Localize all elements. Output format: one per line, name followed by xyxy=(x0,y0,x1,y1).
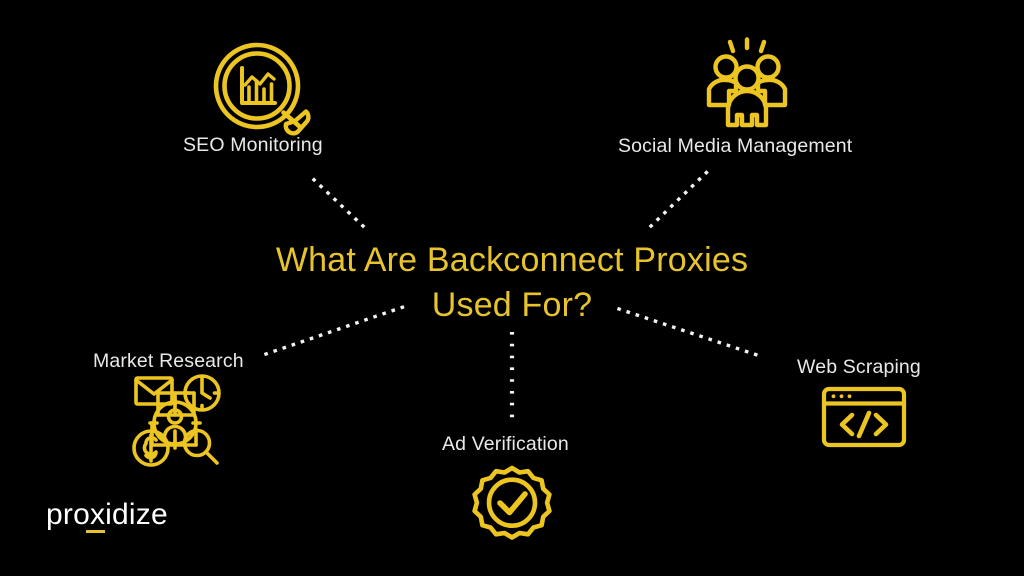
node-label-social-media-management: Social Media Management xyxy=(618,137,852,157)
node-label-web-scraping: Web Scraping xyxy=(797,358,921,378)
connector-title-to-social-media xyxy=(645,168,713,230)
center-title-line-1: What Are Backconnect Proxies xyxy=(0,238,1024,283)
node-label-ad-verification: Ad Verification xyxy=(442,435,569,455)
logo-wordmark: proxidize xyxy=(46,500,168,530)
center-title: What Are Backconnect Proxies Used For? xyxy=(0,238,1024,328)
connector-title-to-ad-verification xyxy=(508,330,516,428)
market-research-network-icon xyxy=(126,371,224,469)
people-group-icon xyxy=(700,39,794,129)
magnifier-bar-chart-icon xyxy=(211,41,311,133)
infographic-canvas: What Are Backconnect Proxies Used For? xyxy=(0,0,1024,576)
browser-code-icon xyxy=(821,386,907,448)
center-title-line-2: Used For? xyxy=(0,283,1024,328)
badge-check-icon xyxy=(467,466,557,550)
node-label-market-research: Market Research xyxy=(93,352,244,372)
logo-accent-underline xyxy=(86,530,105,533)
proxidize-logo: proxidize xyxy=(46,500,168,530)
node-label-seo-monitoring: SEO Monitoring xyxy=(183,136,323,156)
connector-title-to-seo-monitoring xyxy=(305,172,369,230)
